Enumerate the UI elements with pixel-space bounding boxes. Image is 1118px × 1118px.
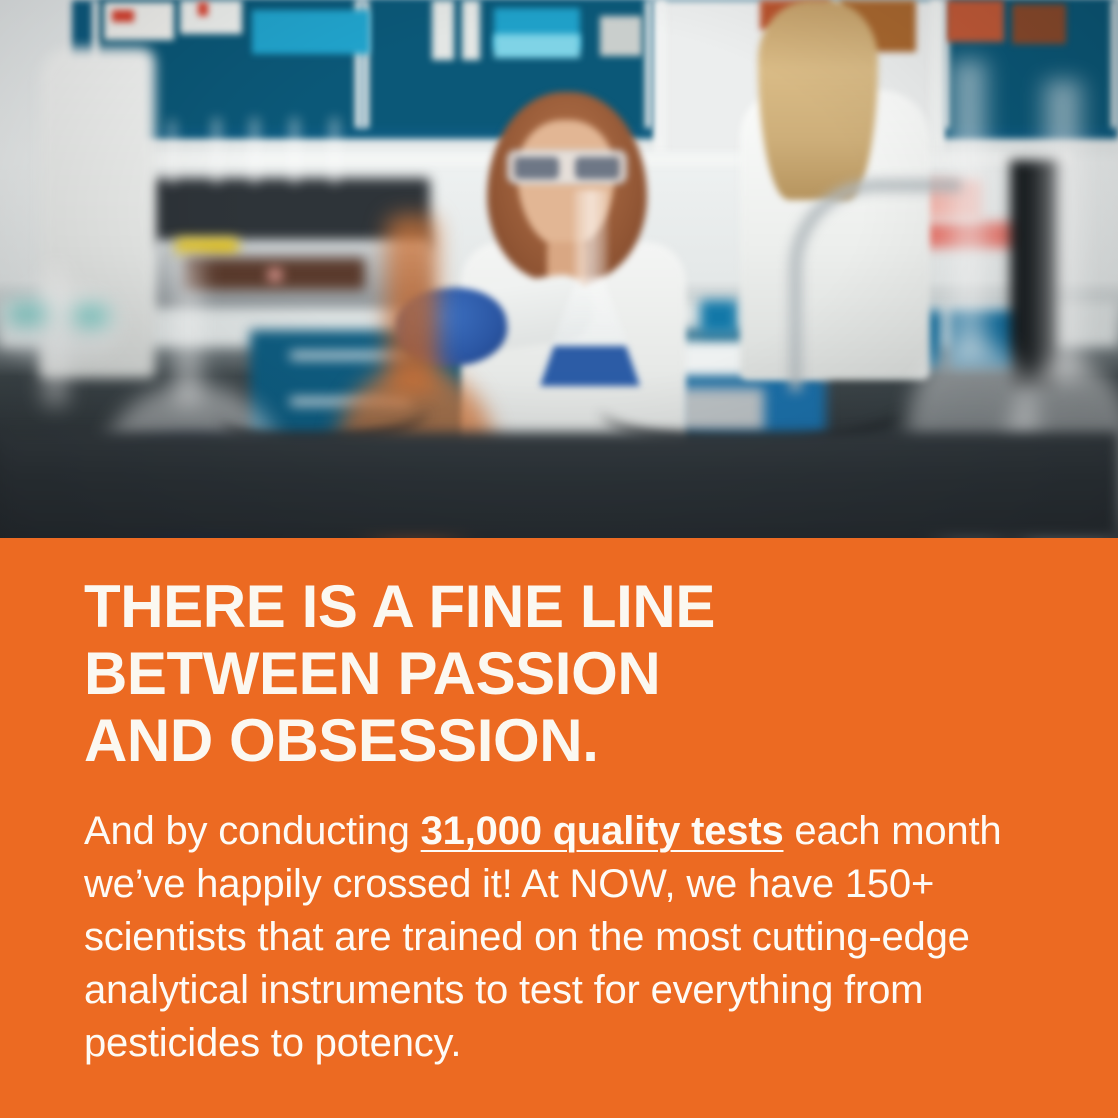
erlenmeyer-flask — [530, 190, 650, 390]
bench-top — [0, 432, 1118, 538]
shelf-item — [252, 10, 370, 54]
goggle-lens — [515, 157, 559, 179]
sample-tube — [330, 118, 339, 184]
sample-tube — [250, 118, 259, 184]
flask-neck — [574, 190, 608, 282]
quality-tests-highlight: 31,000 quality tests — [421, 809, 784, 853]
body-paragraph: And by conducting 31,000 quality tests e… — [84, 805, 1024, 1070]
teal-marking — [8, 305, 46, 323]
shelf-item — [180, 0, 242, 34]
shelf-item — [432, 0, 454, 60]
shelf-item — [494, 34, 580, 58]
goggle-lens — [575, 157, 619, 179]
shelf-item — [1012, 4, 1066, 44]
flask-neck — [1040, 80, 1086, 380]
body-text-before: And by conducting — [84, 809, 421, 853]
promo-graphic: 500 THERE IS A FINE LINE — [0, 0, 1118, 1118]
sample-tube — [212, 118, 221, 184]
teal-marking — [74, 307, 108, 325]
orange-content-panel: THERE IS A FINE LINE BETWEEN PASSION AND… — [0, 538, 1118, 1118]
safety-goggles — [507, 150, 627, 184]
hair — [758, 0, 878, 200]
lab-photo: 500 — [0, 0, 1118, 538]
lab-faucet — [790, 180, 961, 391]
shelf-item — [112, 10, 134, 22]
sample-tube — [290, 118, 299, 184]
flask-neck — [173, 255, 203, 405]
page-title: THERE IS A FINE LINE BETWEEN PASSION AND… — [84, 573, 1044, 774]
shelf-item — [198, 2, 208, 16]
shelf-item — [462, 0, 480, 60]
shelf-item — [600, 16, 642, 56]
